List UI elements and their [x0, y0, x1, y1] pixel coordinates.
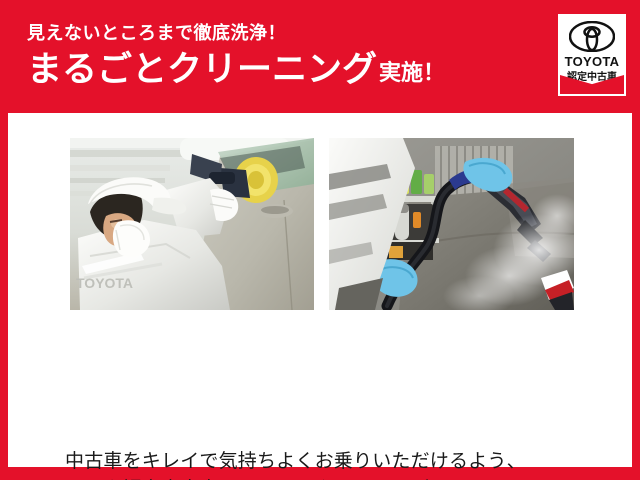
header-kicker: 見えないところまで徹底洗浄！ — [27, 22, 527, 44]
body-copy-line-2: トヨタ認定中古車はしっかりクリーニング。 — [65, 476, 585, 480]
headline-block: 見えないところまで徹底洗浄！ まるごとクリーニング 実施！ — [27, 22, 527, 90]
headline-row: まるごとクリーニング 実施！ — [27, 50, 527, 90]
logo-wordmark: TOYOTA — [560, 54, 624, 69]
photo-seat-steam-cleaning — [329, 138, 574, 310]
header-headline: まるごとクリーニング — [27, 50, 377, 90]
header-headline-suffix: 実施！ — [379, 58, 445, 90]
svg-text:TOYOTA: TOYOTA — [76, 275, 133, 291]
body-copy-line-1: 中古車をキレイで気持ちよくお乗りいただけるよう、 — [65, 448, 585, 476]
cleaning-promo-banner: 見えないところまで徹底洗浄！ まるごとクリーニング 実施！ TOYOTA 認定中… — [0, 0, 640, 480]
banner-header: 見えないところまで徹底洗浄！ まるごとクリーニング 実施！ TOYOTA 認定中… — [0, 0, 640, 113]
content-panel: TOYOTA — [8, 113, 632, 467]
toyota-certified-used-car-logo: TOYOTA 認定中古車 — [558, 14, 626, 96]
photo-exterior-polishing: TOYOTA — [70, 138, 314, 310]
toyota-ellipse-icon — [569, 21, 615, 52]
logo-inner: TOYOTA 認定中古車 — [560, 16, 624, 94]
photo-exterior-polishing-art: TOYOTA — [70, 138, 314, 310]
body-copy: 中古車をキレイで気持ちよくお乗りいただけるよう、 トヨタ認定中古車はしっかりクリ… — [65, 448, 585, 480]
photo-row: TOYOTA — [70, 138, 574, 310]
photo-seat-steam-cleaning-art — [329, 138, 574, 310]
